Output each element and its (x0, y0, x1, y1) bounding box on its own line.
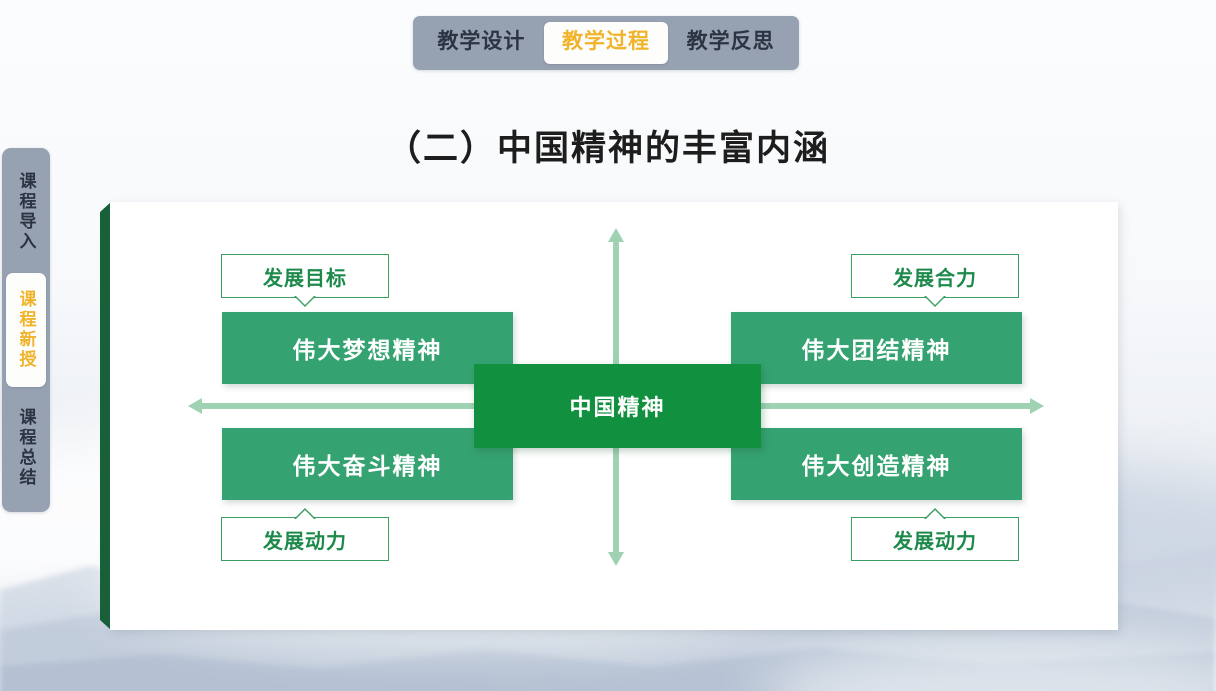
callout-label-bottom-right[interactable]: 发展动力 (851, 517, 1019, 561)
quadrant-box-top-left[interactable]: 伟大梦想精神 (222, 312, 513, 384)
callout-label-bottom-left[interactable]: 发展动力 (221, 517, 389, 561)
quadrant-box-top-right[interactable]: 伟大团结精神 (731, 312, 1022, 384)
quadrant-box-bottom-right[interactable]: 伟大创造精神 (731, 428, 1022, 500)
center-box-china-spirit[interactable]: 中国精神 (474, 364, 761, 448)
slide-canvas: 教学设计 教学过程 教学反思 课程导入 课程新授 课程总结 （二）中国精神的丰富… (0, 0, 1216, 691)
china-spirit-diagram: 伟大梦想精神 伟大团结精神 伟大奋斗精神 伟大创造精神 中国精神 发展目标 发展… (0, 0, 1216, 691)
callout-label-top-right[interactable]: 发展合力 (851, 254, 1019, 298)
callout-label-top-left[interactable]: 发展目标 (221, 254, 389, 298)
quadrant-box-bottom-left[interactable]: 伟大奋斗精神 (222, 428, 513, 500)
